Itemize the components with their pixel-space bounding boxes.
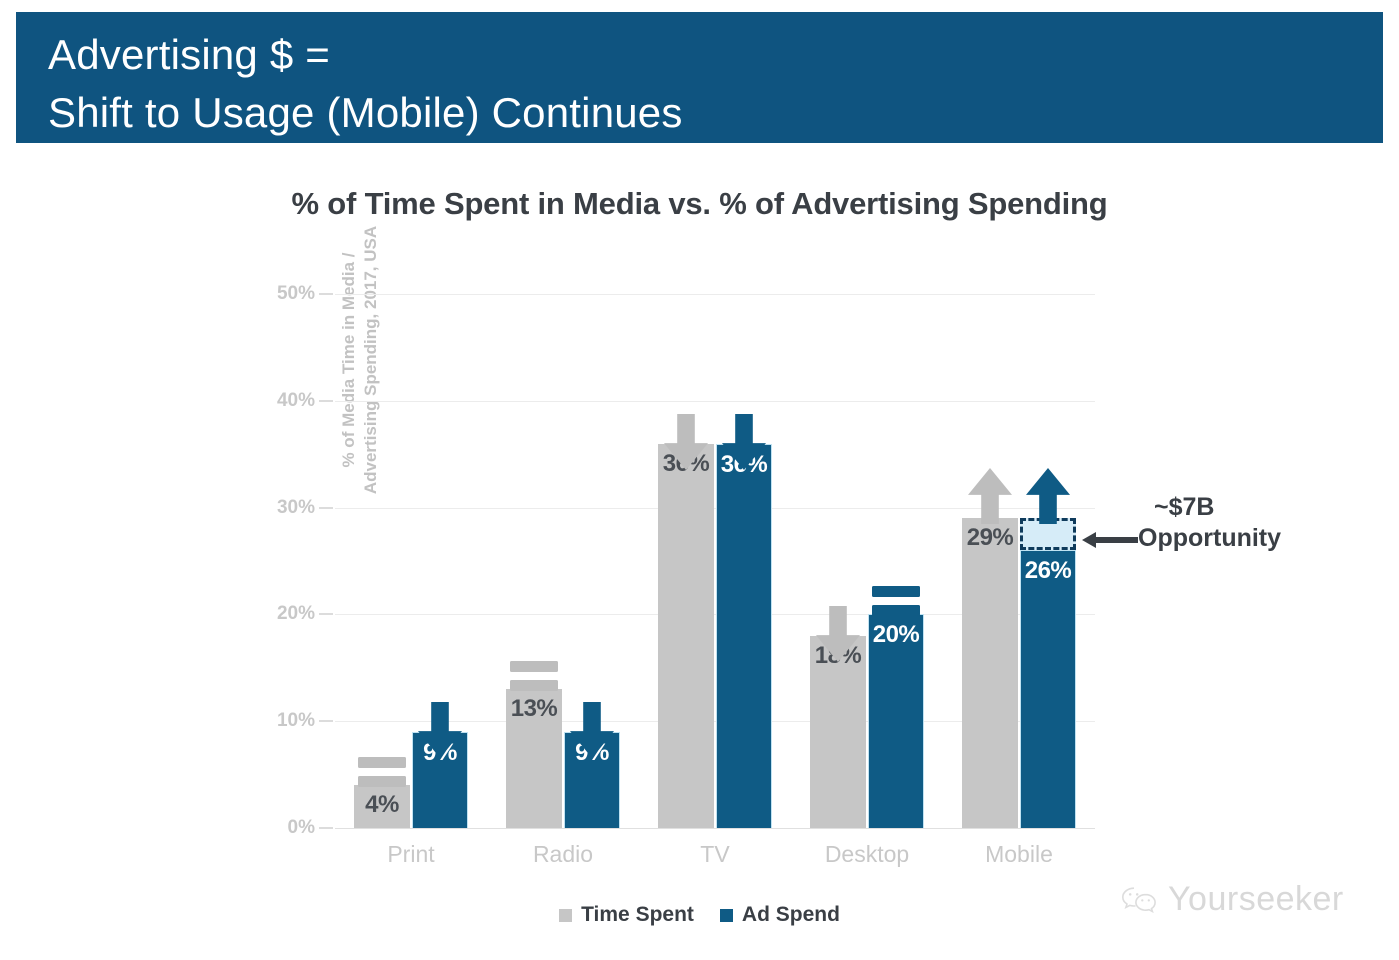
bar-tv-ad-spend[interactable]: 36% bbox=[716, 444, 772, 828]
bar-value-label: 26% bbox=[1021, 557, 1075, 585]
wechat-icon bbox=[1121, 884, 1159, 916]
opportunity-arrow-icon bbox=[1082, 530, 1138, 550]
bar-value-label: 13% bbox=[506, 695, 562, 723]
equals-icon-radio-time-spent bbox=[510, 659, 558, 695]
equals-icon-desktop-ad-spend bbox=[872, 584, 920, 620]
bar-desktop-ad-spend[interactable]: 20% bbox=[868, 614, 924, 828]
gridline-50 bbox=[335, 294, 1095, 295]
y-tick-label: 10% bbox=[235, 710, 315, 732]
opportunity-amount: ~$7B bbox=[1138, 492, 1281, 523]
arrow-up-icon-mobile-ad-spend bbox=[1026, 468, 1070, 524]
y-tick-label: 50% bbox=[235, 283, 315, 305]
arrow-down-icon-radio-ad-spend bbox=[570, 702, 614, 758]
equals-icon-print-time-spent bbox=[358, 755, 406, 791]
watermark: Yourseeker bbox=[1121, 880, 1344, 919]
bar-value-label: 4% bbox=[354, 791, 410, 819]
y-tick-mark bbox=[319, 720, 333, 722]
x-axis-label-print: Print bbox=[335, 841, 487, 868]
chart-title: % of Time Spent in Media vs. % of Advert… bbox=[0, 186, 1399, 222]
arrow-down-icon-tv-ad-spend bbox=[722, 414, 766, 470]
opportunity-label: Opportunity bbox=[1138, 523, 1281, 554]
bar-tv-time-spent[interactable]: 36% bbox=[658, 444, 714, 828]
bar-radio-time-spent[interactable]: 13% bbox=[506, 689, 562, 828]
x-axis-label-radio: Radio bbox=[487, 841, 639, 868]
y-tick-mark bbox=[319, 827, 333, 829]
banner-title: Advertising $ = Shift to Usage (Mobile) … bbox=[48, 26, 683, 142]
bar-desktop-time-spent[interactable]: 18% bbox=[810, 636, 866, 828]
arrow-down-icon-desktop-time-spent bbox=[816, 606, 860, 662]
x-axis-label-desktop: Desktop bbox=[791, 841, 943, 868]
legend-item-ad-spend[interactable]: Ad Spend bbox=[720, 903, 840, 927]
bar-mobile-time-spent[interactable]: 29% bbox=[962, 518, 1018, 828]
arrow-down-icon-tv-time-spent bbox=[664, 414, 708, 470]
y-tick-label: 40% bbox=[235, 390, 315, 412]
legend-item-time-spent[interactable]: Time Spent bbox=[559, 903, 694, 927]
arrow-down-icon-print-ad-spend bbox=[418, 702, 462, 758]
y-tick-mark bbox=[319, 507, 333, 509]
bar-mobile-ad-spend[interactable]: 26% bbox=[1020, 550, 1076, 828]
slide-root: Advertising $ = Shift to Usage (Mobile) … bbox=[0, 0, 1399, 960]
y-tick-label: 0% bbox=[235, 817, 315, 839]
y-tick-label: 20% bbox=[235, 603, 315, 625]
y-tick-label: 30% bbox=[235, 497, 315, 519]
legend-swatch-icon bbox=[720, 909, 733, 922]
watermark-text: Yourseeker bbox=[1168, 880, 1344, 919]
gridline-0 bbox=[335, 828, 1095, 829]
header-banner: Advertising $ = Shift to Usage (Mobile) … bbox=[16, 12, 1383, 143]
y-tick-mark bbox=[319, 293, 333, 295]
gridline-40 bbox=[335, 401, 1095, 402]
y-tick-mark bbox=[319, 613, 333, 615]
opportunity-annotation: ~$7B Opportunity bbox=[1138, 492, 1281, 555]
legend-label: Ad Spend bbox=[742, 903, 840, 927]
y-tick-mark bbox=[319, 400, 333, 402]
legend-label: Time Spent bbox=[581, 903, 694, 927]
legend-swatch-icon bbox=[559, 909, 572, 922]
bar-value-label: 29% bbox=[962, 524, 1018, 552]
bar-print-time-spent[interactable]: 4% bbox=[354, 785, 410, 828]
arrow-up-icon-mobile-time-spent bbox=[968, 468, 1012, 524]
x-axis-label-mobile: Mobile bbox=[943, 841, 1095, 868]
x-axis-label-tv: TV bbox=[639, 841, 791, 868]
bar-value-label: 20% bbox=[869, 621, 923, 649]
